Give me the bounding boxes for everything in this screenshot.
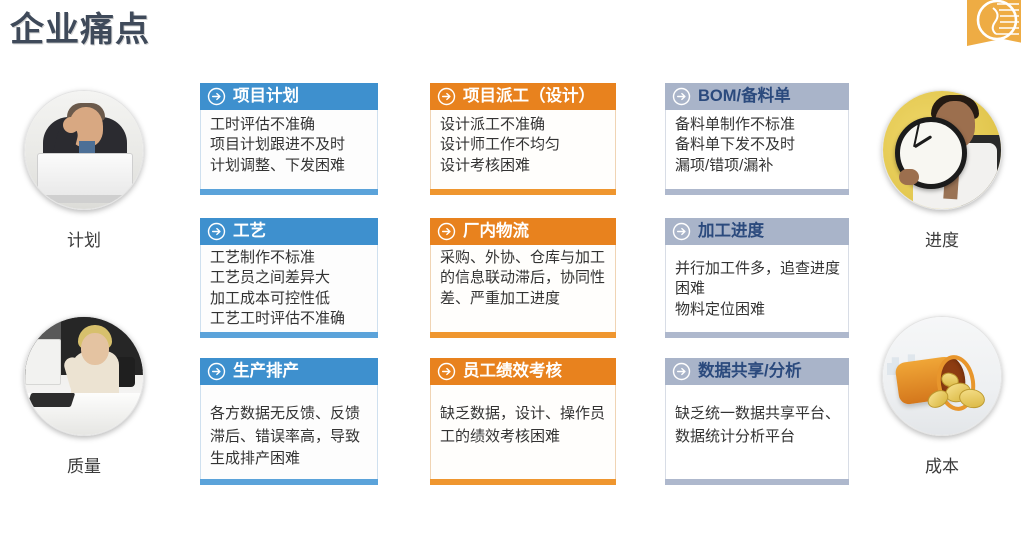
photo-block-plan: 计划 [8, 90, 160, 251]
circle-arrow-right-icon [672, 87, 691, 106]
card-title: 员工绩效考核 [463, 363, 562, 380]
photo-label-progress: 进度 [866, 226, 1018, 251]
circle-arrow-right-icon [437, 222, 456, 241]
card-body: 工艺制作不标准 工艺员之间差异大 加工成本可控性低 工艺工时评估不准确 [200, 245, 378, 332]
card-header: 员工绩效考核 [430, 358, 616, 385]
photo-plan [24, 90, 144, 210]
circle-arrow-right-icon [207, 222, 226, 241]
card-header: 工艺 [200, 218, 378, 245]
card-body: 各方数据无反馈、反馈滞后、错误率高，导致生成排产困难 [200, 385, 378, 479]
slide-canvas: 企业痛点 计划 [0, 0, 1021, 543]
card-line: 采购、外协、仓库与加工的信息联动滞后，协同性差、严重加工进度 [440, 248, 607, 309]
circle-arrow-right-icon [437, 87, 456, 106]
card-header: 数据共享/分析 [665, 358, 849, 385]
photo-label-plan: 计划 [8, 226, 160, 251]
card-line: 计划调整、下发困难 [210, 156, 369, 176]
photo-label-cost: 成本 [866, 452, 1018, 477]
card-machining-progress[interactable]: 加工进度 并行加工件多，追查进度困难 物料定位困难 [665, 218, 849, 338]
card-body: 缺乏统一数据共享平台、数据统计分析平台 [665, 385, 849, 479]
card-line: 工艺工时评估不准确 [210, 309, 369, 329]
photo-block-progress: 进度 [866, 90, 1018, 251]
card-craft[interactable]: 工艺 工艺制作不标准 工艺员之间差异大 加工成本可控性低 工艺工时评估不准确 [200, 218, 378, 338]
card-title: 生产排产 [233, 363, 299, 380]
card-line: 备料单制作不标准 [675, 115, 840, 135]
card-title: 数据共享/分析 [698, 363, 802, 380]
card-header: BOM/备料单 [665, 83, 849, 110]
card-body: 缺乏数据，设计、操作员工的绩效考核困难 [430, 385, 616, 479]
card-body: 并行加工件多，追查进度困难 物料定位困难 [665, 245, 849, 332]
card-line: 工时评估不准确 [210, 115, 369, 135]
card-data-sharing-analysis[interactable]: 数据共享/分析 缺乏统一数据共享平台、数据统计分析平台 [665, 358, 849, 485]
card-line: 备料单下发不及时 [675, 135, 840, 155]
card-line: 漏项/错项/漏补 [675, 156, 840, 176]
card-project-dispatch-design[interactable]: 项目派工（设计） 设计派工不准确 设计师工作不均匀 设计考核困难 [430, 83, 616, 195]
circle-arrow-right-icon [672, 222, 691, 241]
card-title: 加工进度 [698, 223, 764, 240]
card-line: 各方数据无反馈、反馈滞后、错误率高，导致生成排产困难 [210, 403, 369, 471]
card-internal-logistics[interactable]: 厂内物流 采购、外协、仓库与加工的信息联动滞后，协同性差、严重加工进度 [430, 218, 616, 338]
circle-arrow-right-icon [207, 87, 226, 106]
card-body: 设计派工不准确 设计师工作不均匀 设计考核困难 [430, 110, 616, 189]
card-line: 加工成本可控性低 [210, 289, 369, 309]
photo-cost [882, 316, 1002, 436]
card-line: 项目计划跟进不及时 [210, 135, 369, 155]
circle-arrow-right-icon [672, 362, 691, 381]
card-line: 缺乏数据，设计、操作员工的绩效考核困难 [440, 403, 607, 448]
card-title: BOM/备料单 [698, 88, 791, 105]
card-line: 工艺制作不标准 [210, 248, 369, 268]
card-project-plan[interactable]: 项目计划 工时评估不准确 项目计划跟进不及时 计划调整、下发困难 [200, 83, 378, 195]
card-line: 设计派工不准确 [440, 115, 607, 135]
card-line: 设计考核困难 [440, 156, 607, 176]
card-footer-bar [200, 189, 378, 195]
card-title: 厂内物流 [463, 223, 529, 240]
card-line: 并行加工件多，追查进度困难 [675, 259, 840, 300]
card-footer-bar [665, 189, 849, 195]
card-line: 设计师工作不均匀 [440, 135, 607, 155]
photo-block-cost: 成本 [866, 316, 1018, 477]
card-title: 项目计划 [233, 88, 299, 105]
card-title: 工艺 [233, 223, 266, 240]
card-header: 生产排产 [200, 358, 378, 385]
card-footer-bar [430, 332, 616, 338]
card-header: 项目计划 [200, 83, 378, 110]
card-title: 项目派工（设计） [463, 88, 595, 105]
card-body: 备料单制作不标准 备料单下发不及时 漏项/错项/漏补 [665, 110, 849, 189]
card-footer-bar [200, 332, 378, 338]
photo-block-quality: 质量 [8, 316, 160, 477]
card-body: 采购、外协、仓库与加工的信息联动滞后，协同性差、严重加工进度 [430, 245, 616, 332]
card-line: 工艺员之间差异大 [210, 268, 369, 288]
ribbon-circle-icon [967, 0, 1021, 50]
circle-arrow-right-icon [207, 362, 226, 381]
card-production-scheduling[interactable]: 生产排产 各方数据无反馈、反馈滞后、错误率高，导致生成排产困难 [200, 358, 378, 485]
corner-ribbon-logo [949, 0, 1021, 60]
photo-label-quality: 质量 [8, 452, 160, 477]
card-header: 加工进度 [665, 218, 849, 245]
page-title: 企业痛点 [10, 2, 150, 51]
photo-quality [24, 316, 144, 436]
card-header: 厂内物流 [430, 218, 616, 245]
card-footer-bar [665, 479, 849, 485]
card-footer-bar [430, 479, 616, 485]
card-employee-performance[interactable]: 员工绩效考核 缺乏数据，设计、操作员工的绩效考核困难 [430, 358, 616, 485]
card-bom-material-list[interactable]: BOM/备料单 备料单制作不标准 备料单下发不及时 漏项/错项/漏补 [665, 83, 849, 195]
card-footer-bar [430, 189, 616, 195]
card-line: 物料定位困难 [675, 300, 840, 320]
card-header: 项目派工（设计） [430, 83, 616, 110]
photo-progress [882, 90, 1002, 210]
circle-arrow-right-icon [437, 362, 456, 381]
card-line: 缺乏统一数据共享平台、数据统计分析平台 [675, 403, 840, 448]
card-footer-bar [200, 479, 378, 485]
card-body: 工时评估不准确 项目计划跟进不及时 计划调整、下发困难 [200, 110, 378, 189]
card-footer-bar [665, 332, 849, 338]
